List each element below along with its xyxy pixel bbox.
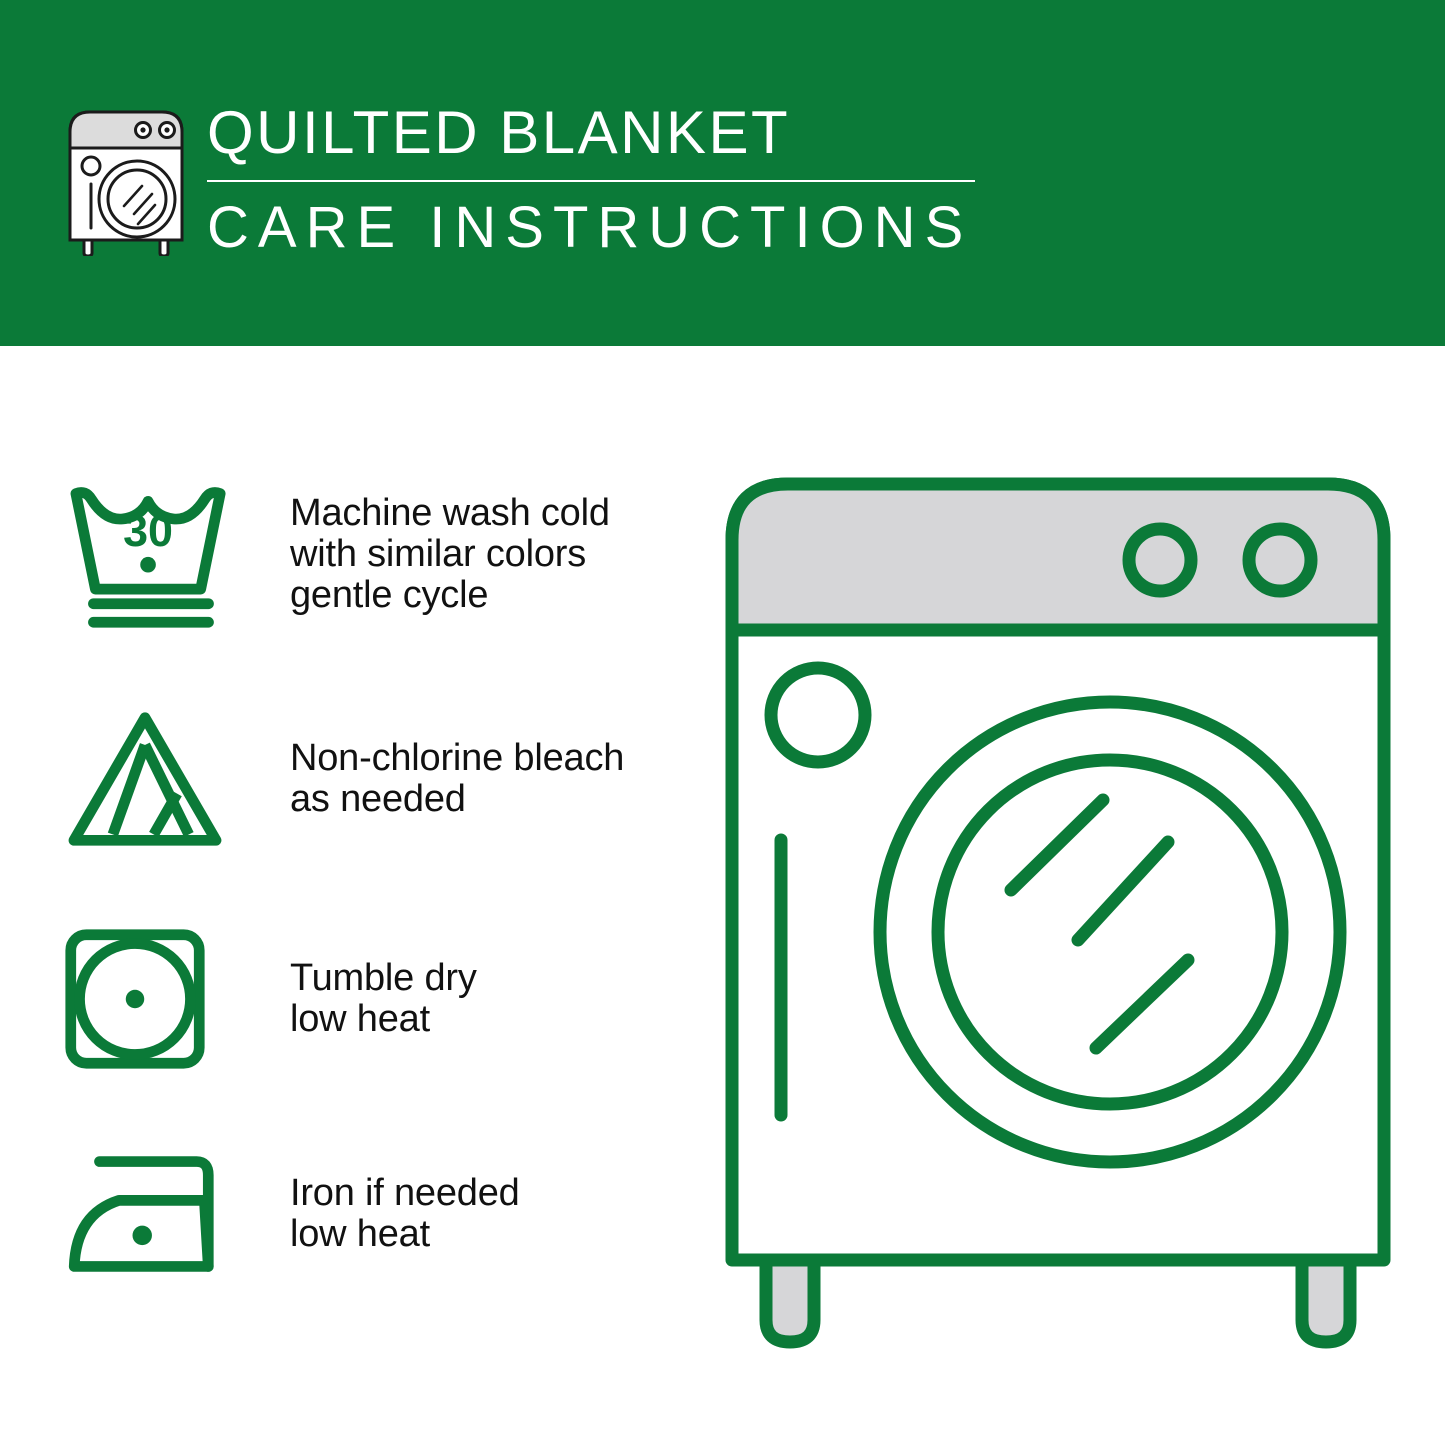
header-band: QUILTED BLANKET CARE INSTRUCTIONS [0, 0, 1445, 346]
care-instruction-list: 30 Machine wash cold with similar colors… [0, 346, 710, 1445]
care-text-tumble-dry: Tumble dry low heat [290, 958, 477, 1040]
care-text-line: as needed [290, 779, 624, 820]
care-text-line: Non-chlorine bleach [290, 738, 624, 779]
care-text-line: low heat [290, 999, 477, 1040]
wash-tub-30-gentle-icon: 30 [62, 476, 242, 632]
care-row-bleach: Non-chlorine bleach as needed [0, 706, 710, 852]
header-text-block: QUILTED BLANKET CARE INSTRUCTIONS [207, 100, 997, 260]
machine-control-panel [732, 484, 1384, 630]
care-text-line: low heat [290, 1214, 520, 1255]
tumble-dry-low-heat-icon [62, 926, 242, 1072]
title-divider [207, 180, 975, 182]
care-text-line: Iron if needed [290, 1173, 520, 1214]
care-text-bleach: Non-chlorine bleach as needed [290, 738, 624, 820]
wash-temperature-label: 30 [123, 505, 173, 556]
care-text-line: with similar colors [290, 534, 610, 575]
iron-low-heat-icon [62, 1146, 242, 1282]
care-text-iron: Iron if needed low heat [290, 1173, 520, 1255]
care-text-machine-wash: Machine wash cold with similar colors ge… [290, 493, 610, 616]
care-text-line: Machine wash cold [290, 493, 610, 534]
non-chlorine-bleach-triangle-icon [62, 706, 242, 852]
care-row-machine-wash: 30 Machine wash cold with similar colors… [0, 476, 710, 632]
care-text-line: gentle cycle [290, 575, 610, 616]
care-row-tumble-dry: Tumble dry low heat [0, 926, 710, 1072]
care-instructions-page: QUILTED BLANKET CARE INSTRUCTIONS 30 [0, 0, 1445, 1445]
machine-leg-left [766, 1260, 814, 1342]
page-title: QUILTED BLANKET [207, 100, 997, 166]
front-load-washing-machine-illustration [718, 470, 1398, 1350]
drum-inner [938, 760, 1282, 1104]
care-row-iron: Iron if needed low heat [0, 1146, 710, 1282]
care-text-line: Tumble dry [290, 958, 477, 999]
washing-machine-icon [62, 104, 190, 256]
machine-leg-right [1302, 1260, 1350, 1342]
page-subtitle: CARE INSTRUCTIONS [207, 196, 997, 260]
